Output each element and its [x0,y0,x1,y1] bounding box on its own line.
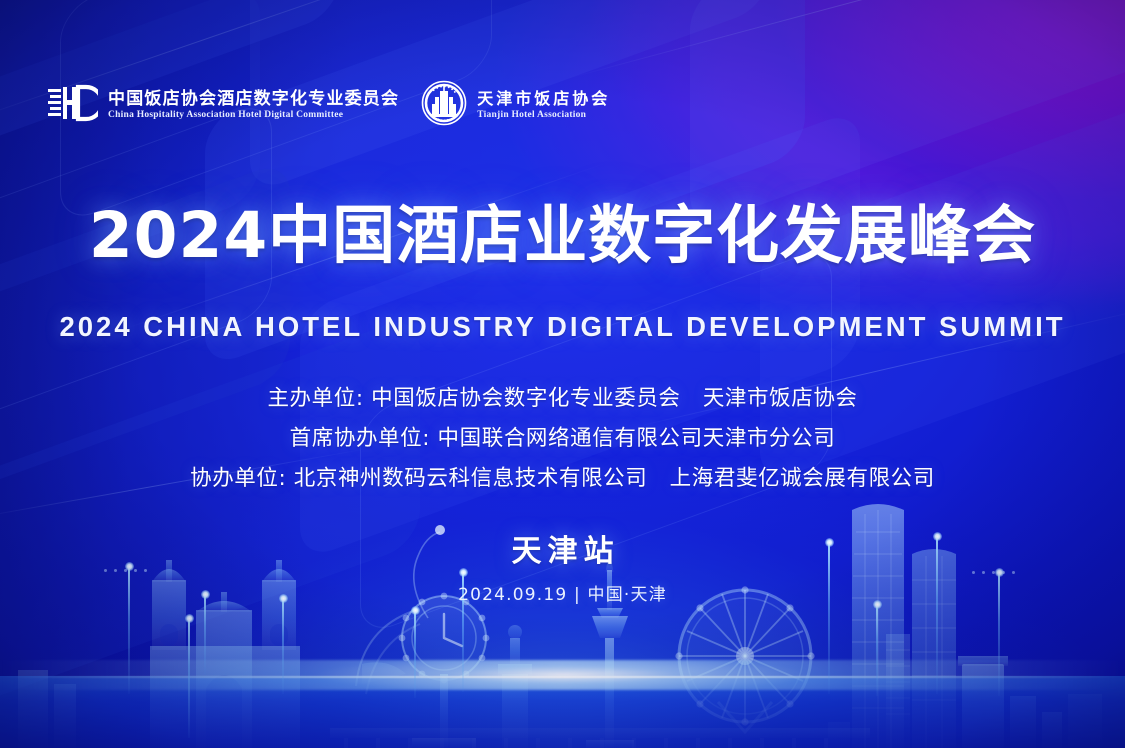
skyline-ground [0,676,1125,748]
logo-tianjin-hotel-association: 天津市饭店协会 Tianjin Hotel Association [421,80,610,131]
logo-name-cn: 中国饭店协会酒店数字化专业委员会 [108,89,399,109]
event-poster: 中国饭店协会酒店数字化专业委员会 China Hospitality Assoc… [0,0,1125,748]
logo-china-hospitality-association: 中国饭店协会酒店数字化专业委员会 China Hospitality Assoc… [48,84,399,127]
event-date-city: 2024.09.19 | 中国·天津 [0,580,1125,605]
logo-text-block: 天津市饭店协会 Tianjin Hotel Association [477,90,610,122]
logo-name-cn: 天津市饭店协会 [477,90,610,109]
horizon-light-core [0,676,1125,678]
logo-text-block: 中国饭店协会酒店数字化专业委员会 China Hospitality Assoc… [108,89,399,122]
page-title: 2024中国酒店业数字化发展峰会 [0,203,1125,270]
partner-logos: 中国饭店协会酒店数字化专业委员会 China Hospitality Assoc… [48,80,610,131]
logo-name-en: China Hospitality Association Hotel Digi… [108,109,399,122]
organizer-list: 主办单位: 中国饭店协会数字化专业委员会 天津市饭店协会 首席协办单位: 中国联… [0,386,1125,493]
logo-name-en: Tianjin Hotel Association [477,109,610,122]
organizer-line-host: 主办单位: 中国饭店协会数字化专业委员会 天津市饭店协会 [0,386,1125,413]
page-subtitle: 2024 CHINA HOTEL INDUSTRY DIGITAL DEVELO… [0,312,1125,342]
organizer-line-chief-coorganizer: 首席协办单位: 中国联合网络通信有限公司天津市分公司 [0,426,1125,453]
tianjin-seal-icon [421,80,467,131]
hd-monogram-icon [48,84,98,127]
organizer-line-coorganizer: 协办单位: 北京神州数码云科信息技术有限公司 上海君斐亿诚会展有限公司 [0,466,1125,493]
event-station: 天津站 [0,535,1125,570]
